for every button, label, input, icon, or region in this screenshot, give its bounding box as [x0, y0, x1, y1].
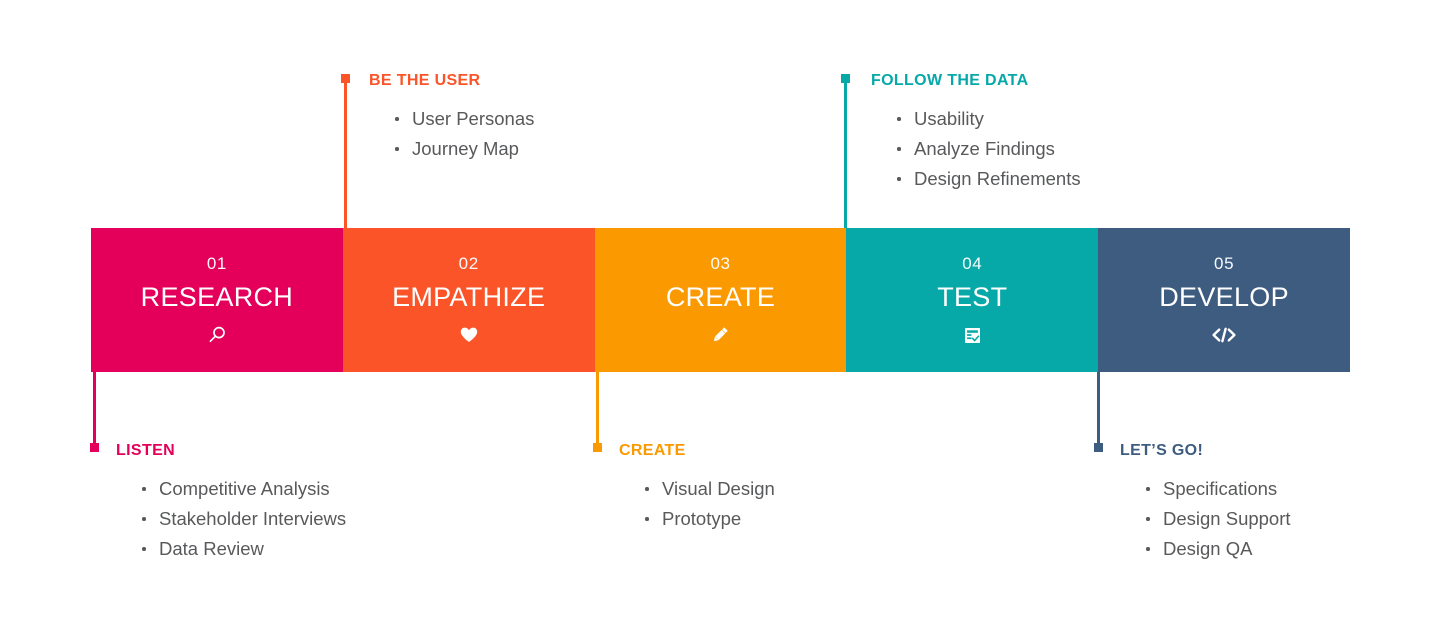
callout-title: CREATE [619, 441, 775, 460]
connector-marker-create [593, 443, 602, 452]
list-item: User Personas [395, 104, 534, 134]
callout-title: LET’S GO! [1120, 441, 1291, 460]
callout-title: LISTEN [116, 441, 346, 460]
list-item: Competitive Analysis [142, 474, 346, 504]
stage-title: DEVELOP [1159, 281, 1289, 313]
stage-number: 05 [1214, 254, 1234, 274]
list-item: Stakeholder Interviews [142, 504, 346, 534]
list-item: Data Review [142, 534, 346, 564]
checklist-icon [963, 324, 982, 346]
callout-be-the-user: BE THE USER User Personas Journey Map [369, 71, 534, 164]
list-item: Visual Design [645, 474, 775, 504]
stage-title: EMPATHIZE [392, 281, 545, 313]
stage-title: RESEARCH [141, 281, 293, 313]
stage-number: 01 [207, 254, 227, 274]
stage-research[interactable]: 01 RESEARCH [91, 228, 343, 372]
callout-listen: LISTEN Competitive Analysis Stakeholder … [116, 441, 346, 564]
callout-list: User Personas Journey Map [395, 104, 534, 164]
list-item: Specifications [1146, 474, 1291, 504]
list-item: Analyze Findings [897, 134, 1081, 164]
process-bar: 01 RESEARCH 02 EMPATHIZE 03 CREATE [91, 228, 1350, 372]
connector-line-be-the-user [344, 78, 347, 228]
list-item: Usability [897, 104, 1081, 134]
callout-lets-go: LET’S GO! Specifications Design Support … [1120, 441, 1291, 564]
callout-follow-the-data: FOLLOW THE DATA Usability Analyze Findin… [871, 71, 1081, 194]
callout-list: Usability Analyze Findings Design Refine… [897, 104, 1081, 194]
list-item: Design Support [1146, 504, 1291, 534]
stage-number: 04 [962, 254, 982, 274]
list-item: Design QA [1146, 534, 1291, 564]
callout-list: Competitive Analysis Stakeholder Intervi… [142, 474, 346, 564]
connector-marker-lets-go [1094, 443, 1103, 452]
stage-test[interactable]: 04 TEST [846, 228, 1098, 372]
callout-create: CREATE Visual Design Prototype [619, 441, 775, 534]
magnifier-icon [207, 324, 227, 346]
connector-marker-listen [90, 443, 99, 452]
callout-title: FOLLOW THE DATA [871, 71, 1081, 90]
list-item: Design Refinements [897, 164, 1081, 194]
stage-number: 03 [710, 254, 730, 274]
stage-empathize[interactable]: 02 EMPATHIZE [343, 228, 595, 372]
stage-develop[interactable]: 05 DEVELOP [1098, 228, 1350, 372]
heart-icon [459, 324, 479, 346]
list-item: Prototype [645, 504, 775, 534]
connector-line-lets-go [1097, 372, 1100, 443]
callout-title: BE THE USER [369, 71, 534, 90]
connector-line-create [596, 372, 599, 443]
stage-create[interactable]: 03 CREATE [595, 228, 847, 372]
connector-line-follow-the-data [844, 78, 847, 228]
stage-number: 02 [459, 254, 479, 274]
connector-line-listen [93, 372, 96, 443]
pencil-icon [709, 324, 731, 346]
code-icon [1211, 324, 1237, 346]
stage-title: TEST [937, 281, 1007, 313]
callout-list: Specifications Design Support Design QA [1146, 474, 1291, 564]
callout-list: Visual Design Prototype [645, 474, 775, 534]
list-item: Journey Map [395, 134, 534, 164]
stage-title: CREATE [666, 281, 775, 313]
infographic-canvas: 01 RESEARCH 02 EMPATHIZE 03 CREATE [0, 0, 1440, 622]
